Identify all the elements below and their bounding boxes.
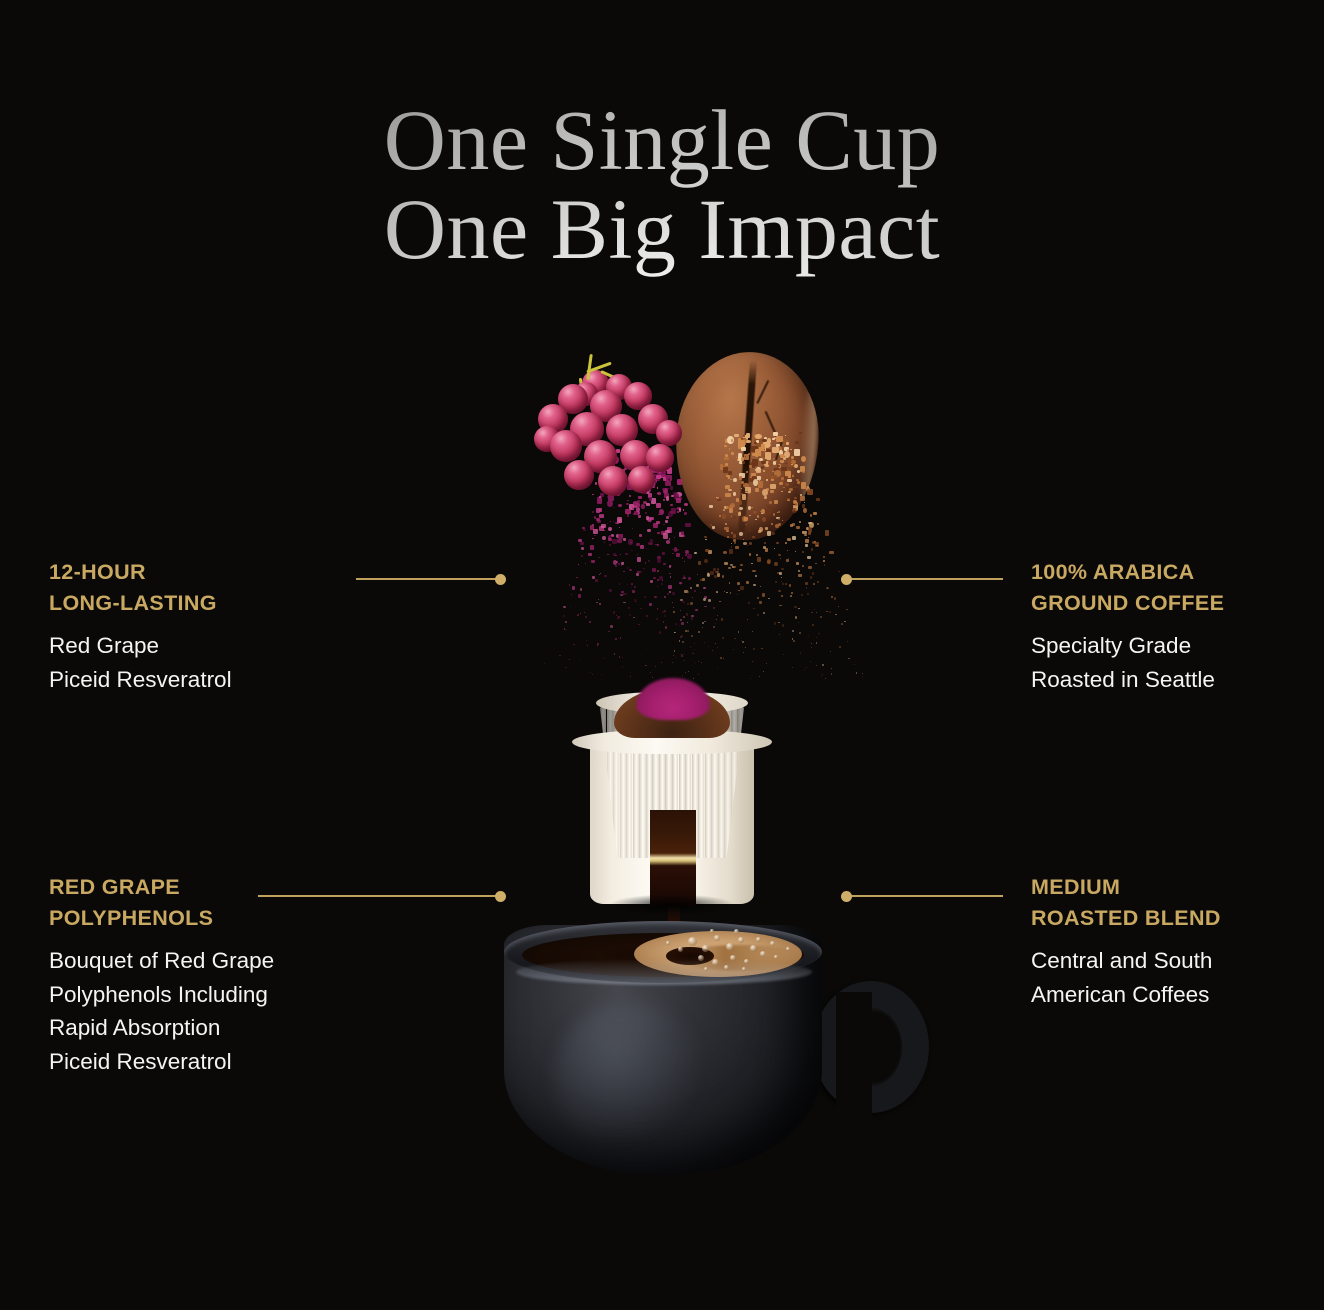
dissolve-particle [696,584,699,587]
dissolve-particle [751,473,756,477]
dissolve-particle [608,538,612,542]
dissolve-particle [764,542,766,544]
dissolve-particle [698,631,700,633]
dissolve-particle [812,541,816,545]
dissolve-particle [725,493,731,497]
dissolve-particle [726,506,729,509]
filter-flute [698,698,704,858]
dissolve-particle [690,646,691,648]
dissolve-particle [659,471,660,473]
dissolve-particle [621,591,624,594]
annotation-body: Central and South American Coffees [1031,944,1324,1011]
dissolve-particle [756,440,759,443]
dissolve-particle [669,538,670,540]
dissolve-particle [825,530,830,536]
dissolve-particle [657,466,663,470]
filter-flute [626,698,632,858]
dissolve-particle [668,478,671,481]
dissolve-particle [684,590,687,593]
dissolve-particle [722,575,724,577]
dissolve-particle [633,501,638,505]
dissolve-particle [766,509,771,516]
dissolve-particle [793,474,795,476]
dissolve-particle [717,615,718,616]
dissolve-particle [620,554,621,555]
dissolve-particle [759,458,763,461]
dissolve-particle [783,457,786,460]
dissolve-particle [814,609,815,611]
dissolve-particle [731,452,734,455]
crema-bubble [770,941,775,946]
dissolve-particle [559,655,560,656]
dissolve-particle [669,565,671,568]
dissolve-particle [668,511,673,517]
dissolve-particle [694,649,696,651]
dissolve-particle [794,449,800,456]
dissolve-particle [729,448,731,450]
grape-berry [620,440,651,471]
grape-berry [638,404,668,434]
dissolve-particle [862,673,863,674]
dissolve-particle [813,512,818,516]
dissolve-particle [775,581,778,583]
filter-flute [679,698,685,858]
dissolve-particle [620,594,623,596]
dissolve-particle [760,586,761,587]
dissolve-particle [621,562,624,566]
dissolve-particle [639,488,641,489]
dissolve-particle [663,477,667,481]
dissolve-particle [671,495,674,498]
dissolve-particle [693,678,694,679]
dissolve-particle [658,456,664,461]
dissolve-particle [770,490,774,492]
headline-line-2: One Big Impact [0,185,1324,274]
dissolve-particle [609,544,611,546]
dissolve-particle [612,539,617,544]
dissolve-particle [658,470,665,479]
dissolve-particle [766,663,767,664]
bean-crack [775,441,784,463]
dissolve-particle [795,551,796,553]
dissolve-particle [563,615,565,617]
dissolve-particle [683,509,684,510]
dissolve-particle [706,606,708,607]
dissolve-particle [682,676,683,677]
crema-bubble [744,959,749,964]
crema-bubble [738,937,744,943]
dissolve-particle [778,511,780,514]
dissolve-particle [755,434,762,439]
pod-rim-flange [572,730,772,754]
dissolve-particle [674,493,679,500]
dissolve-particle [724,506,728,509]
dissolve-particle [762,517,766,522]
dissolve-particle [648,459,650,461]
dissolve-particle [692,653,694,654]
dissolve-particle [768,461,772,466]
dissolve-particle [835,614,837,615]
dissolve-particle [663,621,665,623]
dissolve-particle [680,610,681,611]
dissolve-particle [787,479,792,482]
dissolve-particle [635,474,639,477]
dissolve-particle [682,557,684,559]
dissolve-particle [744,517,749,522]
coffee-crema [634,931,802,977]
dissolve-particle [661,474,666,477]
dissolve-particle [771,476,775,481]
dissolve-particle [823,560,825,561]
dissolve-particle [781,491,783,492]
dissolve-particle [791,464,792,465]
dissolve-particle [667,527,672,533]
pod-shadow [608,894,736,916]
dissolve-particle [741,488,742,490]
dissolve-particle [590,672,591,673]
filter-flute [685,698,691,858]
dissolve-particle [755,519,756,520]
dissolve-particle [673,492,677,495]
dissolve-particle [601,524,606,528]
filter-flute [646,698,652,858]
dissolve-particle [781,577,782,578]
mug-body [504,925,822,1175]
dissolve-particle [808,566,812,569]
dissolve-particle [738,631,739,633]
dissolve-particle [778,554,781,556]
dissolve-particle [747,619,748,620]
dissolve-particle [803,508,808,513]
dissolve-particle [782,624,784,627]
dissolve-particle [701,662,702,663]
dissolve-particle [694,590,696,592]
dissolve-particle [781,581,782,582]
dissolve-particle [795,502,798,506]
dissolve-particle [650,580,653,584]
dissolve-particle [763,671,764,673]
dissolve-particle [626,486,627,487]
dissolve-particle [856,672,857,673]
filter-flute [737,698,743,858]
dissolve-particle [700,592,701,593]
dissolve-particle [631,583,633,585]
dissolve-particle [724,457,729,461]
dissolve-particle [721,618,723,621]
dissolve-particle [618,475,621,478]
dissolve-particle [806,527,809,530]
dissolve-particle [816,545,818,547]
dissolve-particle [726,530,729,532]
dissolve-particle [613,521,614,522]
dissolve-particle [702,578,705,580]
dissolve-particle [569,659,570,660]
dissolve-particle [725,523,727,525]
dissolve-particle [811,643,813,644]
dissolve-particle [795,616,798,619]
dissolve-particle [777,572,780,574]
dissolve-particle [695,663,696,664]
dissolve-particle [778,523,781,526]
dissolve-particle [638,478,641,482]
dissolve-particle [708,599,711,602]
dissolve-particle [754,434,758,438]
dissolve-particle [764,496,768,499]
dissolve-particle [680,584,681,586]
connector-line [850,578,1003,580]
dissolve-particle [776,542,778,544]
dissolve-particle [802,531,807,534]
dissolve-particle [730,479,732,480]
dissolve-particle [579,659,580,660]
dissolve-particle [704,642,705,643]
dissolve-particle [746,471,748,473]
filter-flute [613,698,619,858]
annotation-heading: MEDIUM ROASTED BLEND [1031,872,1324,933]
dissolve-particle [639,452,642,455]
dissolve-particle [745,491,748,493]
dissolve-particle [665,475,672,481]
dissolve-particle [766,445,769,448]
grape-berry [628,466,655,493]
dissolve-particle [638,571,642,573]
crema-bubble [742,967,746,971]
dissolve-particle [786,469,790,474]
dissolve-particle [764,449,765,450]
dissolve-particle [604,658,605,659]
dissolve-particle [789,584,791,587]
dissolve-particle [591,560,595,563]
dissolve-particle [672,592,675,595]
dissolve-particle [774,470,780,477]
dissolve-particle [563,606,566,608]
dissolve-particle [815,542,819,547]
dissolve-particle [778,464,782,468]
dissolve-particle [783,654,784,655]
dissolve-particle [592,576,595,579]
filter-flute [633,698,639,858]
dissolve-particle [650,539,652,542]
dissolve-particle [780,558,781,559]
dissolve-particle [664,463,670,469]
dissolve-particle [625,509,631,515]
dissolve-particle [657,556,661,559]
dissolve-particle [741,493,743,495]
dissolve-particle [592,524,594,526]
dissolve-particle [757,614,760,616]
filter-flute [600,698,606,858]
filter-flute [705,698,711,858]
dissolve-particle [725,485,730,489]
dissolve-particle [709,505,713,508]
dissolve-particle [807,492,808,493]
dissolve-particle [759,444,765,450]
filter-flute [731,698,737,858]
dissolve-particle [817,581,819,583]
dissolve-particle [635,512,638,515]
dissolve-particle [727,536,729,538]
grape-berry [624,382,652,410]
grape-berry [582,370,609,397]
dissolve-particle [685,630,687,632]
dissolve-particle [708,646,710,647]
annotation-heading: RED GRAPE POLYPHENOLS [49,872,379,933]
dissolve-particle [599,473,601,474]
k-cup-coffee-pod-icon [572,658,772,916]
dissolve-particle [763,612,766,614]
dissolve-particle [657,469,662,474]
dissolve-particle [752,473,753,474]
dissolve-particle [754,437,761,446]
dissolve-particle [603,482,606,485]
dissolve-particle [802,565,804,567]
dissolve-particle [592,674,593,675]
dissolve-particle [601,674,602,675]
grape-berry [606,374,632,400]
dissolve-particle [812,572,814,575]
dissolve-particle [733,534,736,538]
dissolve-particle [716,619,717,620]
dissolve-particle [625,553,628,555]
dissolve-particle [608,527,612,531]
dissolve-particle [680,619,682,621]
dissolve-particle [765,445,767,446]
dissolve-particle [829,611,831,613]
dissolve-particle [657,570,659,572]
dissolve-particle [679,582,682,584]
dissolve-particle [737,594,739,595]
dissolve-particle [657,452,660,455]
dissolve-particle [785,542,788,544]
dissolve-particle [622,562,624,563]
dissolve-particle [778,622,781,624]
dissolve-particle [733,649,734,650]
dissolve-particle [613,507,615,509]
dissolve-particle [631,587,632,588]
dissolve-particle [659,454,662,458]
dissolve-particle [745,456,746,458]
connector-line [356,578,499,580]
dissolve-particle [618,504,623,507]
dissolve-particle [604,468,609,474]
dissolve-particle [652,453,656,458]
dissolve-particle [691,617,693,619]
dissolve-particle [756,469,761,473]
dissolve-particle [597,645,599,646]
dissolve-particle [808,522,812,524]
grape-berry [564,460,594,490]
dissolve-particle [584,612,586,613]
dissolve-particle [633,513,635,515]
dissolve-particle [626,456,632,462]
annotation-body: Bouquet of Red Grape Polyphenols Includi… [49,944,379,1078]
dissolve-particle [604,542,605,543]
dissolve-particle [723,467,728,473]
dissolve-particle [607,473,611,476]
dissolve-particle [799,632,801,634]
dissolve-particle [734,434,739,437]
dissolve-particle [758,456,761,459]
dissolve-particle [787,499,790,501]
dissolve-particle [613,611,615,614]
dissolve-particle [743,542,747,545]
dissolve-particle [801,594,804,597]
mug-rim-highlight [516,959,812,985]
bean-rim-highlight [796,386,820,503]
dissolve-particle [761,648,763,650]
dissolve-particle [578,564,579,565]
dissolve-particle [737,582,740,585]
dissolve-particle [631,542,632,543]
dissolve-particle [640,453,646,458]
dissolve-particle [647,517,652,522]
dissolve-particle [792,487,794,488]
infographic-canvas: One Single Cup One Big Impact [0,0,1324,1310]
dissolve-particle [692,597,694,598]
dissolve-particle [733,516,736,519]
dissolve-particle [641,655,642,656]
dissolve-particle [583,529,585,531]
dissolve-particle [745,647,746,648]
dissolve-particle [612,456,619,464]
dissolve-particle [703,587,706,590]
dissolve-particle [580,542,584,545]
dissolve-particle [660,456,665,460]
dissolve-particle [740,586,744,589]
dissolve-particle [779,605,782,607]
dissolve-particle [653,479,657,483]
dissolve-particle [622,453,625,456]
crema-bubble [714,935,720,941]
dissolve-particle [619,583,621,585]
dissolve-particle [636,543,640,547]
dissolve-particle [624,468,627,471]
dissolve-particle [662,680,663,681]
dissolve-particle [665,530,670,533]
dissolve-particle [661,583,663,585]
dissolve-particle [594,516,597,520]
dissolve-particle [616,561,619,564]
dissolve-particle [681,655,683,657]
dissolve-particle [662,458,664,460]
dissolve-particle [795,503,798,507]
dissolve-particle [733,566,736,569]
dissolve-particle [637,571,640,573]
dissolve-particle [617,539,621,543]
dissolve-particle [800,652,801,653]
grape-berry [538,404,568,434]
dissolve-particle [684,561,686,562]
dissolve-particle [650,672,651,673]
dissolve-particle [662,458,666,461]
dissolve-particle [764,437,767,441]
dissolve-particle [683,577,686,580]
dissolve-particle [611,534,614,537]
dissolve-particle [687,554,692,560]
dissolve-particle [698,674,699,675]
dissolve-particle [746,581,749,585]
dissolve-particle [750,476,754,481]
dissolve-particle [716,591,718,593]
dissolve-particle [731,516,732,517]
dissolve-particle [799,432,802,434]
dissolve-particle [608,494,614,500]
dissolve-particle [780,480,784,483]
dissolve-particle [757,597,759,599]
dissolve-particle [647,465,651,470]
filter-flute [607,698,613,858]
dissolve-particle [666,496,670,501]
